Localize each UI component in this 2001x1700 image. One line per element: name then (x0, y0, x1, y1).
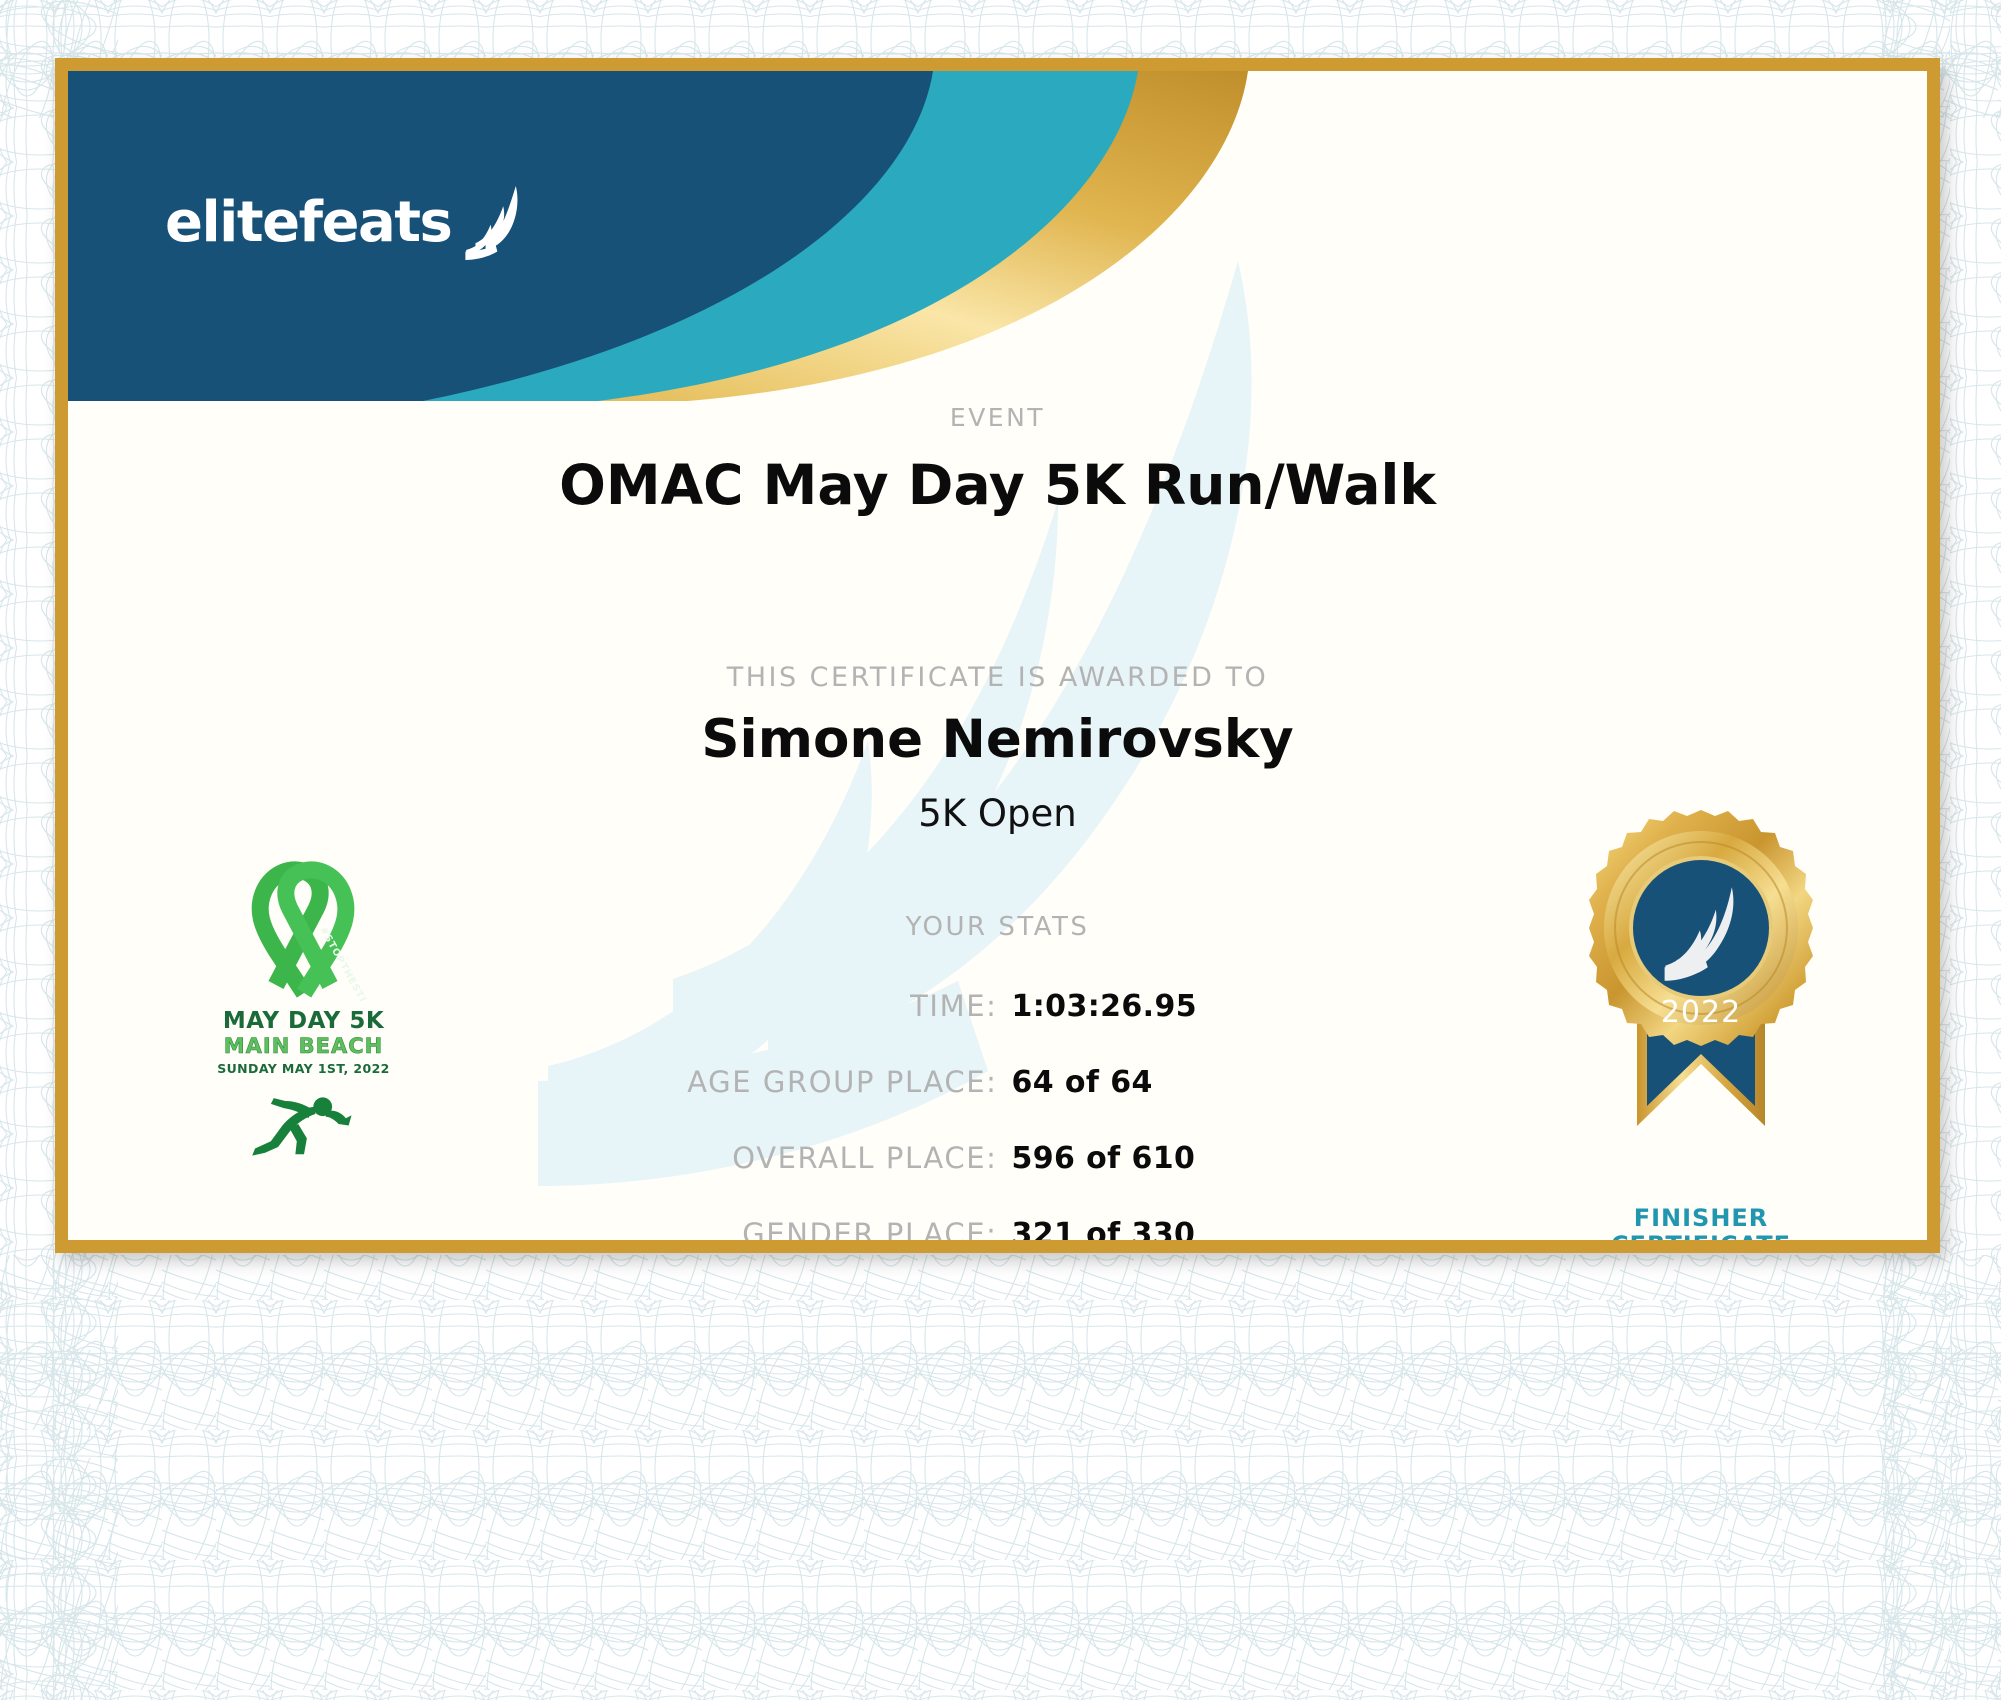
stat-key: OVERALL PLACE: (478, 1141, 998, 1175)
finisher-medal-badge: 2022 FINISHER CERTIFICATE (1571, 796, 1831, 1240)
elitefeats-logo: elitefeats (165, 181, 541, 265)
brand-wordmark: elitefeats (165, 195, 451, 251)
certificate-face: elitefeats EVENT OMAC May (68, 71, 1927, 1240)
event-logo-date: SUNDAY MAY 1ST, 2022 (216, 1061, 391, 1076)
stat-value: 64 of 64 (998, 1065, 1518, 1100)
stat-key: TIME: (478, 989, 998, 1023)
green-awareness-ribbon-icon: #STOPTHESTIGMA (216, 851, 391, 1001)
may-day-5k-event-logo: #STOPTHESTIGMA MAY DAY 5K MAIN BEACH SUN… (216, 851, 391, 1165)
awarded-to-label: THIS CERTIFICATE IS AWARDED TO (68, 662, 1927, 693)
event-logo-subtitle: MAIN BEACH (216, 1034, 391, 1058)
finisher-line-1: FINISHER (1571, 1205, 1831, 1232)
event-name: OMAC May Day 5K Run/Walk (68, 453, 1927, 517)
event-label: EVENT (68, 403, 1927, 432)
stat-value: 596 of 610 (998, 1141, 1518, 1176)
finisher-certificate-caption: FINISHER CERTIFICATE (1571, 1205, 1831, 1240)
stat-key: AGE GROUP PLACE: (478, 1065, 998, 1099)
medal-year-text: 2022 (1661, 995, 1741, 1030)
stat-value: 321 of 330 (998, 1217, 1518, 1240)
winged-foot-icon (457, 181, 541, 265)
certificate-page: elitefeats EVENT OMAC May (0, 0, 2001, 1700)
certificate-gold-frame: elitefeats EVENT OMAC May (55, 58, 1940, 1253)
stat-key: GENDER PLACE: (478, 1217, 998, 1240)
running-man-silhouette-icon (244, 1088, 364, 1160)
finisher-line-2: CERTIFICATE (1571, 1232, 1831, 1240)
event-logo-title: MAY DAY 5K (216, 1008, 391, 1034)
gold-medal-with-ribbon-icon: 2022 (1571, 796, 1831, 1196)
stat-value: 1:03:26.95 (998, 989, 1518, 1024)
athlete-name: Simone Nemirovsky (68, 709, 1927, 770)
